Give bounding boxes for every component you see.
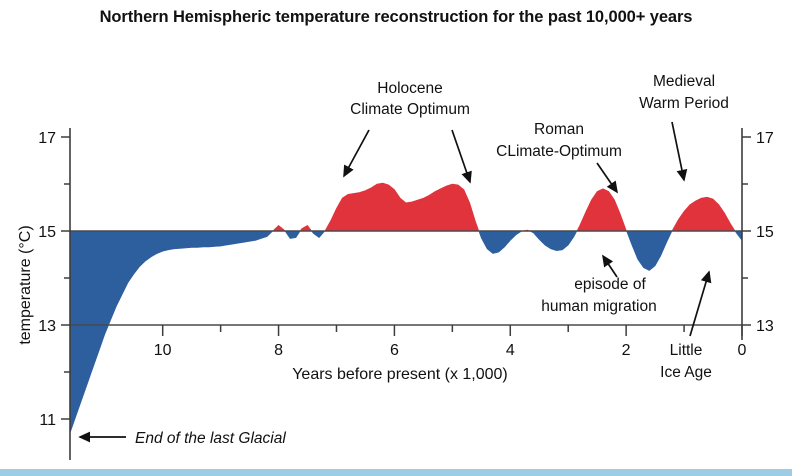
climate-chart: Northern Hemispheric temperature reconst… (0, 0, 792, 476)
y-tick-labels-right: 171513 (756, 130, 774, 335)
annotation-medieval-line1: Medieval (653, 73, 715, 90)
annotation-roman-line1: Roman (534, 121, 584, 138)
y-tick-label-right: 13 (756, 318, 774, 335)
y-tick-label-right: 15 (756, 224, 774, 241)
chart-svg: 17151311 171513 1086420 temperature (°C)… (0, 0, 792, 476)
y-tick-label: 17 (38, 130, 56, 147)
x-axis-title: Years before present (x 1,000) (292, 366, 508, 383)
arrow-roman (597, 163, 617, 192)
annotation-migration-line2: human migration (541, 298, 656, 315)
x-tick-label: 10 (154, 342, 172, 359)
arrow-holocene-right (452, 130, 470, 182)
y-tick-label: 15 (38, 224, 56, 241)
annotation-holocene-line2: Climate Optimum (350, 101, 470, 118)
bottom-accent-bar (0, 469, 792, 476)
y-axis-right-ticks (742, 137, 751, 325)
y-axis-title: temperature (°C) (17, 225, 34, 344)
annotation-glacial: End of the last Glacial (135, 430, 286, 447)
x-axis-ticks (163, 325, 742, 336)
annotation-lia-line2: Ice Age (660, 364, 712, 381)
arrow-holocene-left (344, 130, 369, 176)
y-tick-label: 11 (39, 412, 56, 429)
y-tick-labels: 17151311 (38, 130, 56, 429)
arrow-migration (603, 256, 617, 277)
annotation-medieval-line2: Warm Period (639, 95, 729, 112)
x-tick-label: 0 (738, 342, 747, 359)
y-tick-label-right: 17 (756, 130, 774, 147)
annotation-holocene-line1: Holocene (377, 80, 443, 97)
x-tick-label: 8 (274, 342, 283, 359)
x-tick-label: 2 (622, 342, 631, 359)
annotation-lia-line1: Little (670, 342, 703, 359)
y-axis-left-ticks (61, 137, 70, 419)
x-tick-label: 4 (506, 342, 515, 359)
x-tick-labels: 1086420 (154, 342, 747, 359)
annotation-migration-line1: episode of (574, 276, 646, 293)
y-tick-label: 13 (38, 318, 56, 335)
arrow-lia (690, 272, 709, 336)
x-tick-label: 6 (390, 342, 399, 359)
arrow-medieval (672, 122, 684, 180)
annotation-roman-line2: CLimate-Optimum (496, 143, 622, 160)
